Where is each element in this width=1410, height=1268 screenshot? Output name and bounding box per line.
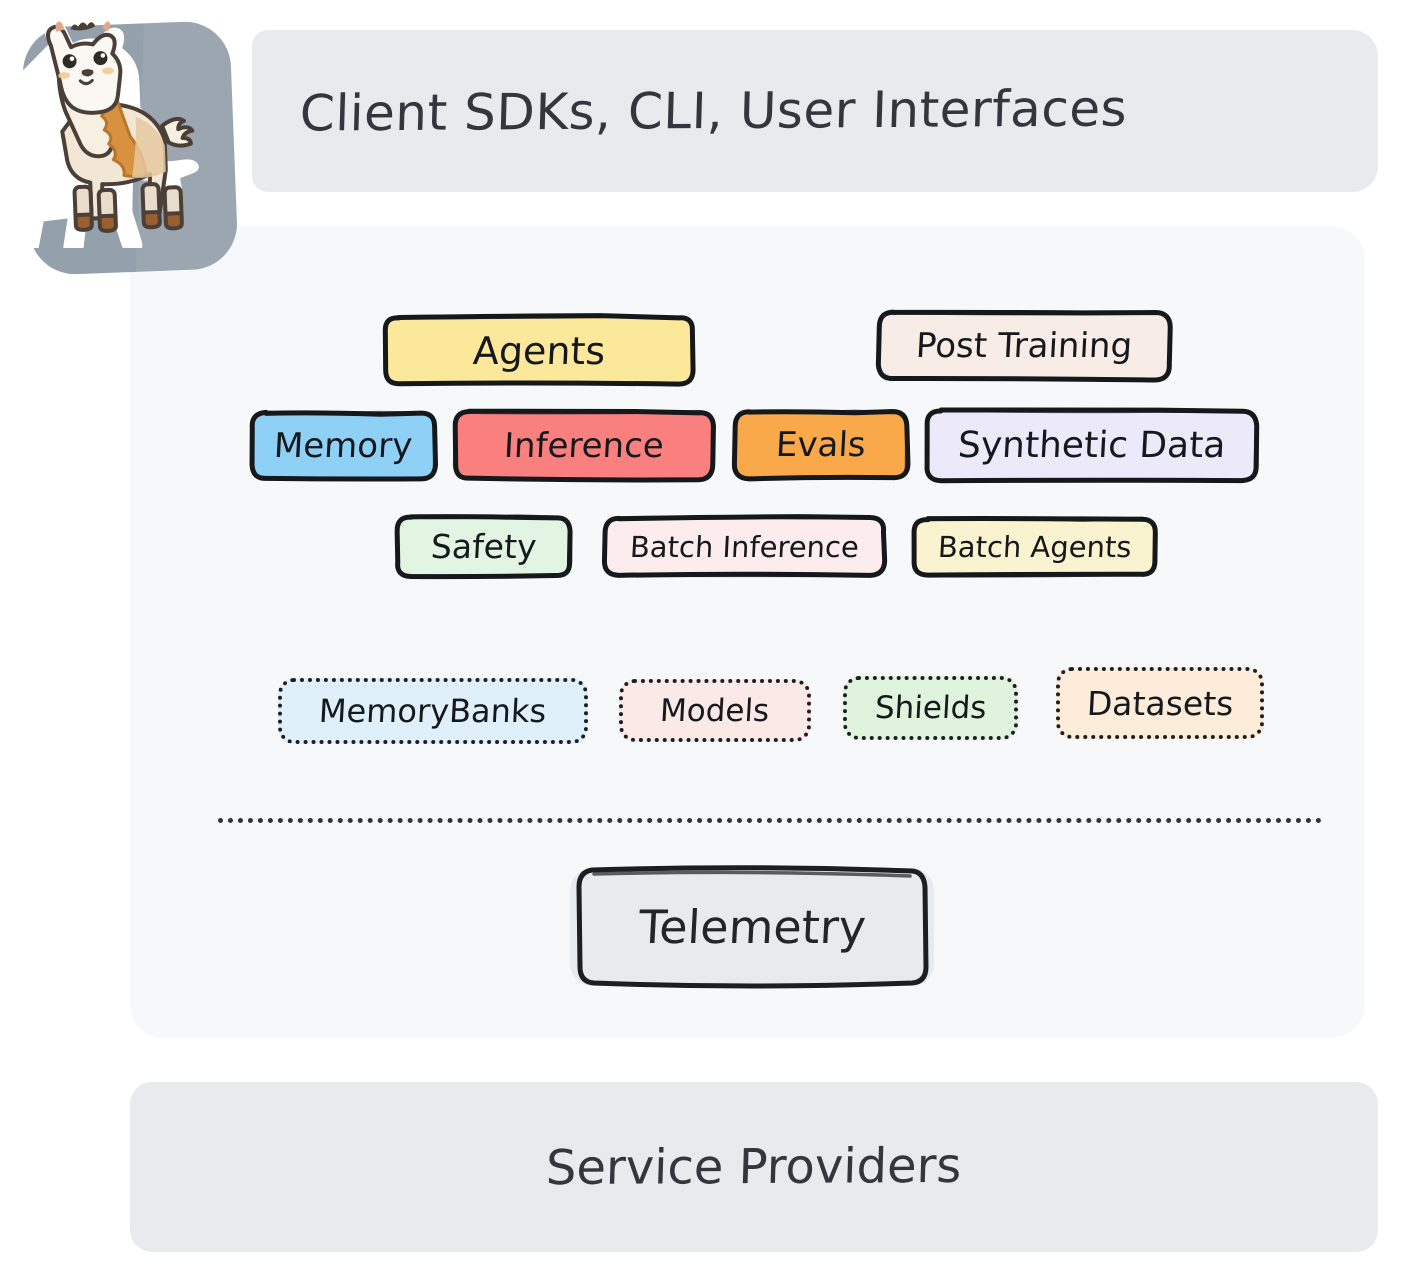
api-box-safety[interactable]: Safety [397, 517, 570, 576]
api-box-label: Inference [503, 426, 665, 466]
resource-box-label: Shields [874, 690, 987, 726]
api-box-inference[interactable]: Inference [455, 412, 713, 479]
layer-divider [218, 818, 1322, 823]
client-layer-band: Client SDKs, CLI, User Interfaces [252, 30, 1378, 192]
resource-box-label: Models [659, 693, 770, 729]
resource-box-memorybanks[interactable]: MemoryBanks [278, 678, 588, 744]
api-box-post-training[interactable]: Post Training [879, 313, 1170, 379]
api-box-label: Agents [472, 329, 607, 373]
telemetry-box[interactable]: Telemetry [570, 868, 934, 986]
resource-box-models[interactable]: Models [619, 679, 811, 742]
api-box-batch-inference[interactable]: Batch Inference [605, 518, 884, 575]
api-box-synthetic-data[interactable]: Synthetic Data [927, 411, 1256, 480]
diagram-canvas: Client SDKs, CLI, User Interfaces [0, 0, 1410, 1268]
api-box-label: Synthetic Data [957, 425, 1227, 466]
resource-box-datasets[interactable]: Datasets [1056, 667, 1264, 739]
api-box-evals[interactable]: Evals [735, 412, 907, 478]
telemetry-label: Telemetry [637, 900, 867, 954]
api-box-label: Batch Agents [937, 530, 1132, 564]
service-providers-band: Service Providers [130, 1082, 1378, 1252]
api-box-label: Memory [273, 426, 413, 466]
page-title: Client SDKs, CLI, User Interfaces [299, 79, 1128, 142]
llama-icon [0, 0, 208, 248]
resource-box-label: Datasets [1086, 684, 1234, 723]
resource-box-label: MemoryBanks [318, 692, 547, 730]
service-providers-label: Service Providers [545, 1138, 962, 1196]
api-box-batch-agents[interactable]: Batch Agents [914, 519, 1155, 575]
api-box-memory[interactable]: Memory [252, 413, 435, 479]
api-box-label: Evals [775, 425, 867, 465]
resource-box-shields[interactable]: Shields [843, 676, 1018, 740]
api-box-label: Post Training [915, 326, 1133, 366]
api-box-label: Safety [430, 527, 538, 566]
api-box-agents[interactable]: Agents [385, 317, 693, 384]
api-box-label: Batch Inference [629, 530, 860, 564]
